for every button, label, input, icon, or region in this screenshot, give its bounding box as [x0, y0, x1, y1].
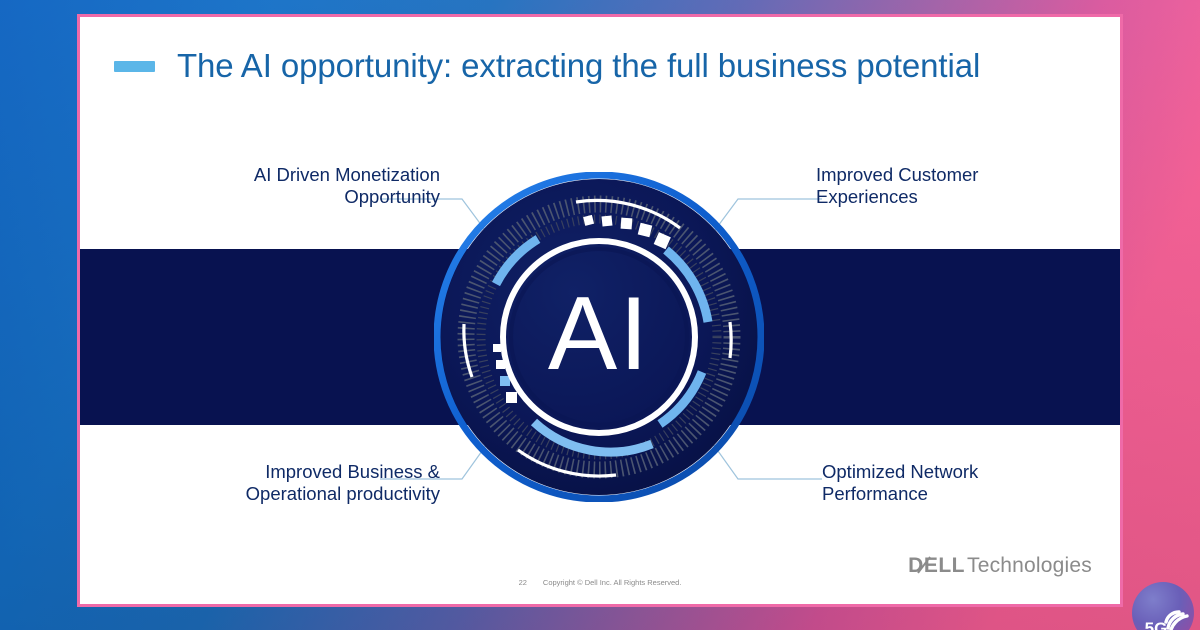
- callout-ai-driven-monetization: AI Driven Monetization Opportunity: [120, 164, 440, 208]
- slide-title-row: The AI opportunity: extracting the full …: [114, 47, 980, 85]
- dell-wordmark-text: DELL: [908, 554, 965, 577]
- callout-optimized-network-performance: Optimized Network Performance: [822, 461, 1122, 505]
- slide-footer: 22 Copyright © Dell Inc. All Rights Rese…: [80, 578, 1120, 587]
- dell-technologies-logo: DELL Technologies: [908, 554, 1092, 578]
- page-title: The AI opportunity: extracting the full …: [177, 47, 980, 85]
- screenshot-root: The AI opportunity: extracting the full …: [0, 0, 1200, 630]
- page-number: 22: [519, 578, 527, 587]
- 5g-badge-label: 5G: [1145, 619, 1168, 630]
- arc-right-white: [730, 322, 731, 358]
- ai-circle-graphic: AI: [434, 172, 764, 502]
- technologies-wordmark: Technologies: [967, 554, 1092, 578]
- presentation-slide: The AI opportunity: extracting the full …: [77, 14, 1123, 607]
- callout-improved-customer-experiences: Improved Customer Experiences: [816, 164, 1116, 208]
- copyright-text: Copyright © Dell Inc. All Rights Reserve…: [543, 578, 682, 587]
- ai-label: AI: [548, 276, 650, 392]
- callout-improved-business-productivity: Improved Business & Operational producti…: [110, 461, 440, 505]
- dell-wordmark: DELL: [908, 554, 965, 578]
- title-accent-dash: [114, 61, 155, 72]
